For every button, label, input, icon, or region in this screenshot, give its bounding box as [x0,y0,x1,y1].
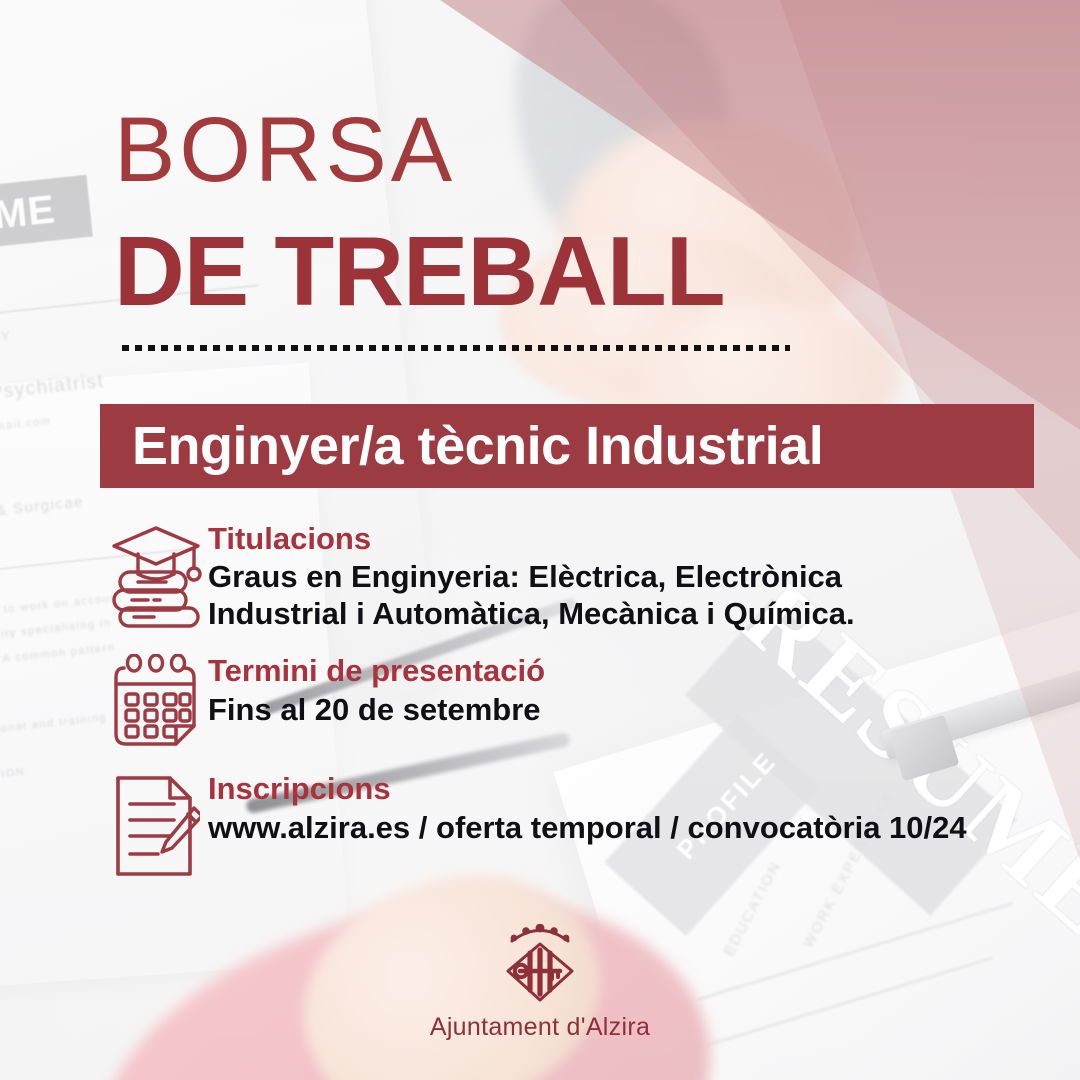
dotted-divider [122,345,790,351]
page-title-line2: DE TREBALL [114,222,725,320]
details-list: Titulacions Graus en Enginyeria: Elèctri… [104,520,1054,898]
job-title-text: Enginyer/a tècnic Industrial [100,415,823,477]
section-value: www.alzira.es / oferta temporal / convoc… [208,809,1054,846]
section-label: Termini de presentació [208,654,1054,688]
brand-name: Ajuntament d'Alzira [430,1013,650,1042]
graduation-cap-books-icon [104,520,208,628]
document-pencil-icon [104,770,208,878]
calendar-icon [104,652,208,750]
section-value: Fins al 20 de setembre [208,691,1054,728]
section-value: Graus en Enginyeria: Elèctrica, Electròn… [208,558,1054,632]
list-item: Termini de presentació Fins al 20 de set… [104,652,1054,750]
list-item: Titulacions Graus en Enginyeria: Elèctri… [104,520,1054,632]
job-title-banner: Enginyer/a tècnic Industrial [100,404,1034,488]
section-label: Titulacions [208,522,1054,556]
section-label: Inscripcions [208,772,1054,806]
list-item: Inscripcions www.alzira.es / oferta temp… [104,770,1054,878]
brand-block: Ajuntament d'Alzira [0,924,1080,1042]
page-title-line1: BORSA [114,104,456,196]
alzira-coat-of-arms-icon [494,924,586,1009]
